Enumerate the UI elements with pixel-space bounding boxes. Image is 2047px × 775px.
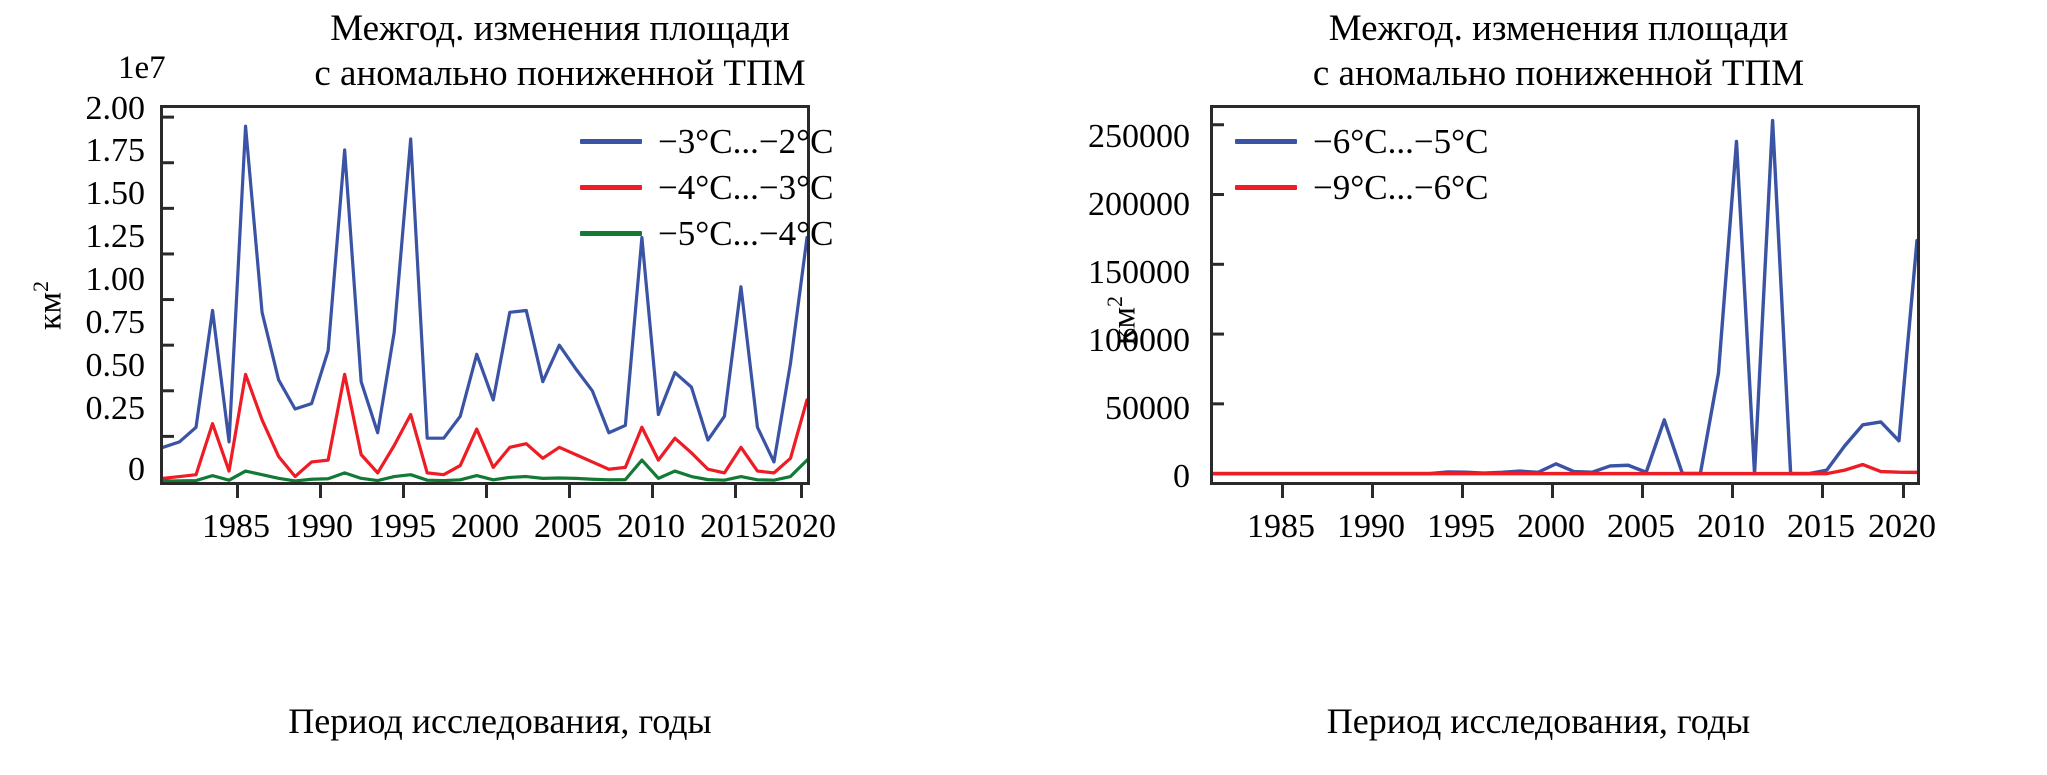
chart-panel-right: Межгод. изменения площади с аномально по… (1030, 0, 2047, 775)
x-tick-mark-right-3 (1551, 485, 1554, 498)
legend-label-left-2: −5°C...−4°C (658, 216, 833, 251)
legend-label-right-0: −6°C...−5°C (1313, 124, 1488, 159)
x-tick-mark-left-1 (319, 485, 322, 498)
x-tick-mark-right-1 (1371, 485, 1374, 498)
legend-item-left-0[interactable]: −3°C...−2°C (580, 118, 833, 164)
y-tick-label-left-6: 1.50 (20, 177, 145, 211)
x-tick-mark-left-6 (734, 485, 737, 498)
y-tick-label-right-1: 50000 (1030, 392, 1190, 426)
legend-swatch-blue-icon (580, 139, 642, 144)
y-tick-label-left-5: 1.25 (20, 220, 145, 254)
legend-swatch-blue-icon (1235, 139, 1297, 144)
legend-label-left-1: −4°C...−3°C (658, 170, 833, 205)
figure-root: Межгод. изменения площади с аномально по… (0, 0, 2047, 775)
legend-label-right-1: −9°C...−6°C (1313, 170, 1488, 205)
y-tick-label-right-4: 200000 (1030, 188, 1190, 222)
x-axis-title-left: Период исследования, годы (0, 700, 1000, 742)
legend-swatch-red-icon (1235, 185, 1297, 190)
legend-item-right-0[interactable]: −6°C...−5°C (1235, 118, 1488, 164)
legend-left: −3°C...−2°C −4°C...−3°C −5°C...−4°C (580, 118, 833, 256)
y-tick-label-right-2: 100000 (1030, 324, 1190, 358)
legend-item-left-1[interactable]: −4°C...−3°C (580, 164, 833, 210)
x-tick-mark-left-7 (800, 485, 803, 498)
x-tick-mark-right-5 (1731, 485, 1734, 498)
x-tick-mark-left-3 (485, 485, 488, 498)
y-axis-label-exponent-right: 2 (1102, 296, 1127, 307)
x-tick-mark-right-4 (1641, 485, 1644, 498)
y-tick-label-left-7: 1.75 (20, 134, 145, 168)
legend-swatch-red-icon (580, 185, 642, 190)
legend-item-right-1[interactable]: −9°C...−6°C (1235, 164, 1488, 210)
y-tick-label-left-8: 2.00 (20, 92, 145, 126)
y-tick-label-left-1: 0.25 (20, 392, 145, 426)
x-tick-mark-left-4 (568, 485, 571, 498)
x-tick-mark-right-2 (1461, 485, 1464, 498)
y-tick-label-left-4: 1.00 (20, 263, 145, 297)
x-tick-mark-right-0 (1281, 485, 1284, 498)
x-tick-mark-right-7 (1902, 485, 1905, 498)
legend-swatch-green-icon (580, 231, 642, 236)
x-tick-mark-left-5 (651, 485, 654, 498)
x-axis-title-right: Период исследования, годы (1030, 700, 2047, 742)
x-tick-mark-left-0 (236, 485, 239, 498)
legend-item-left-2[interactable]: −5°C...−4°C (580, 210, 833, 256)
y-tick-label-right-5: 250000 (1030, 120, 1190, 154)
chart-title-left: Межгод. изменения площади с аномально по… (120, 6, 1000, 96)
y-tick-label-left-0: 0 (20, 453, 145, 487)
y-tick-label-right-3: 150000 (1030, 256, 1190, 290)
y-axis-offset-label-left: 1e7 (118, 50, 166, 87)
legend-right: −6°C...−5°C −9°C...−6°C (1235, 118, 1488, 210)
x-tick-label-right-7: 2020 (1842, 510, 1962, 544)
x-tick-mark-left-2 (402, 485, 405, 498)
y-tick-label-left-2: 0.50 (20, 349, 145, 383)
legend-label-left-0: −3°C...−2°C (658, 124, 833, 159)
x-tick-mark-right-6 (1821, 485, 1824, 498)
series-line-1 (163, 374, 807, 478)
y-tick-label-left-3: 0.75 (20, 306, 145, 340)
chart-panel-left: Межгод. изменения площади с аномально по… (0, 0, 1040, 775)
chart-title-right: Межгод. изменения площади с аномально по… (1080, 6, 2037, 96)
y-tick-label-right-0: 0 (1030, 460, 1190, 494)
x-tick-label-left-7: 2020 (742, 510, 862, 544)
